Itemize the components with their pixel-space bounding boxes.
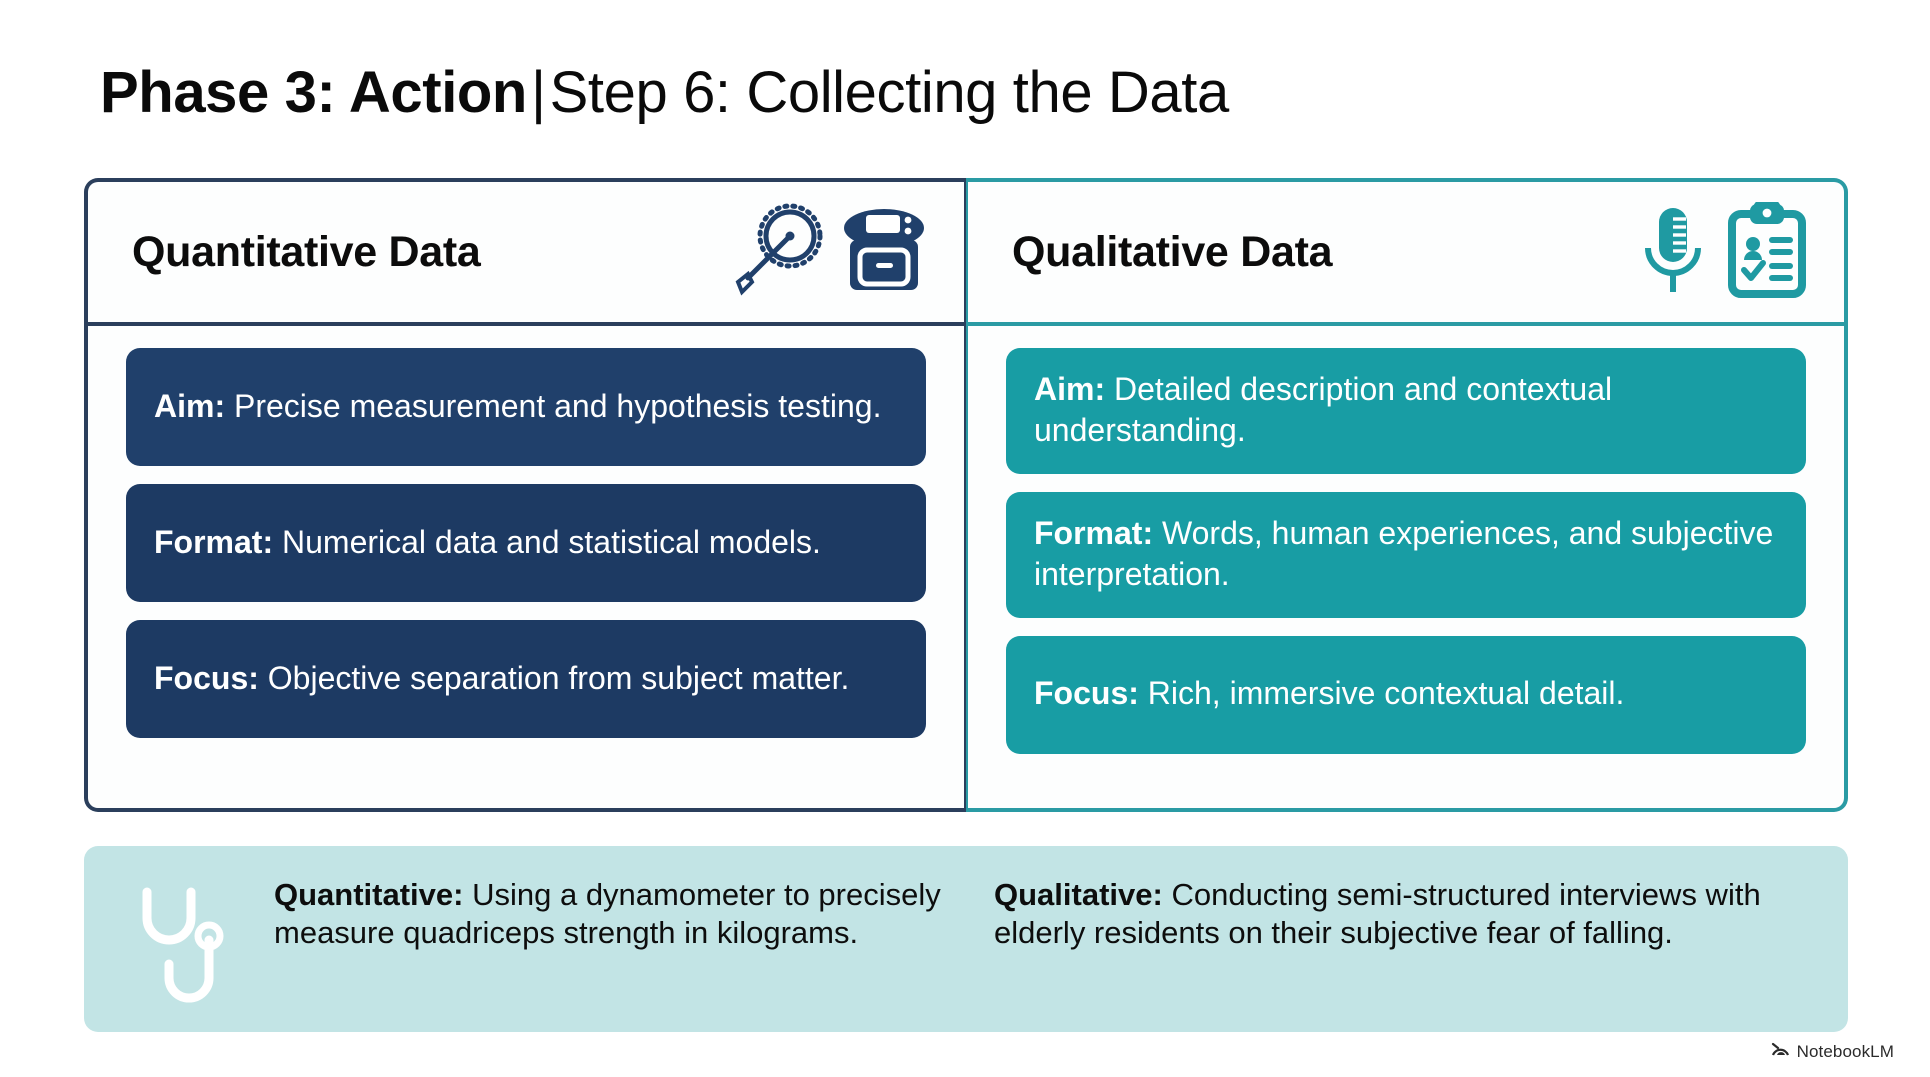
panel-quantitative-body: Aim: Precise measurement and hypothesis … <box>88 326 964 808</box>
chip-text: Rich, immersive contextual detail. <box>1148 675 1625 711</box>
chip-text: Objective separation from subject matter… <box>268 660 850 696</box>
clipboard-interview-icon <box>1724 202 1810 303</box>
panel-qualitative-title: Qualitative Data <box>1012 228 1332 277</box>
panel-qualitative-header: Qualitative Data <box>968 182 1844 326</box>
panel-quantitative-title: Quantitative Data <box>132 228 481 277</box>
panel-quantitative-header: Quantitative Data <box>88 182 964 326</box>
example-qualitative: Qualitative: Conducting semi-structured … <box>994 870 1848 952</box>
example-label: Qualitative: <box>994 877 1163 912</box>
chip-qualitative-aim: Aim: Detailed description and contextual… <box>1006 348 1806 474</box>
gauge-dynamometer-icon <box>728 202 824 303</box>
chip-label: Aim: <box>1034 371 1105 407</box>
chip-quantitative-format: Format: Numerical data and statistical m… <box>126 484 926 602</box>
chip-quantitative-aim: Aim: Precise measurement and hypothesis … <box>126 348 926 466</box>
chip-label: Aim: <box>154 388 225 424</box>
example-quantitative: Quantitative: Using a dynamometer to pre… <box>274 870 994 952</box>
chip-qualitative-format: Format: Words, human experiences, and su… <box>1006 492 1806 618</box>
watermark: NotebookLM <box>1771 1041 1894 1063</box>
panel-quantitative: Quantitative Data <box>84 178 966 812</box>
panel-quantitative-icons <box>728 202 930 303</box>
page-title-bold: Phase 3: Action <box>100 60 527 125</box>
chip-text: Precise measurement and hypothesis testi… <box>234 388 881 424</box>
panel-qualitative-icons <box>1636 202 1810 303</box>
comparison-card: Quantitative Data <box>84 178 1848 812</box>
watermark-label: NotebookLM <box>1797 1042 1894 1062</box>
chip-text: Detailed description and contextual unde… <box>1034 371 1612 448</box>
chip-quantitative-focus: Focus: Objective separation from subject… <box>126 620 926 738</box>
chip-text: Numerical data and statistical models. <box>282 524 821 560</box>
microphone-icon <box>1636 202 1710 303</box>
chip-label: Focus: <box>1034 675 1139 711</box>
page-title-light: Step 6: Collecting the Data <box>550 60 1229 125</box>
notebooklm-logo-icon <box>1771 1041 1790 1063</box>
chip-label: Format: <box>1034 515 1153 551</box>
page-title-separator: | <box>527 60 550 125</box>
panel-qualitative-body: Aim: Detailed description and contextual… <box>968 326 1844 808</box>
example-label: Quantitative: <box>274 877 463 912</box>
chip-label: Focus: <box>154 660 259 696</box>
chip-qualitative-focus: Focus: Rich, immersive contextual detail… <box>1006 636 1806 754</box>
digital-scale-icon <box>838 202 930 303</box>
examples-footer: Quantitative: Using a dynamometer to pre… <box>84 846 1848 1032</box>
page-title: Phase 3: Action|Step 6: Collecting the D… <box>100 62 1229 123</box>
chip-label: Format: <box>154 524 273 560</box>
stethoscope-icon <box>84 870 274 1018</box>
panel-qualitative: Qualitative Data <box>966 178 1848 812</box>
